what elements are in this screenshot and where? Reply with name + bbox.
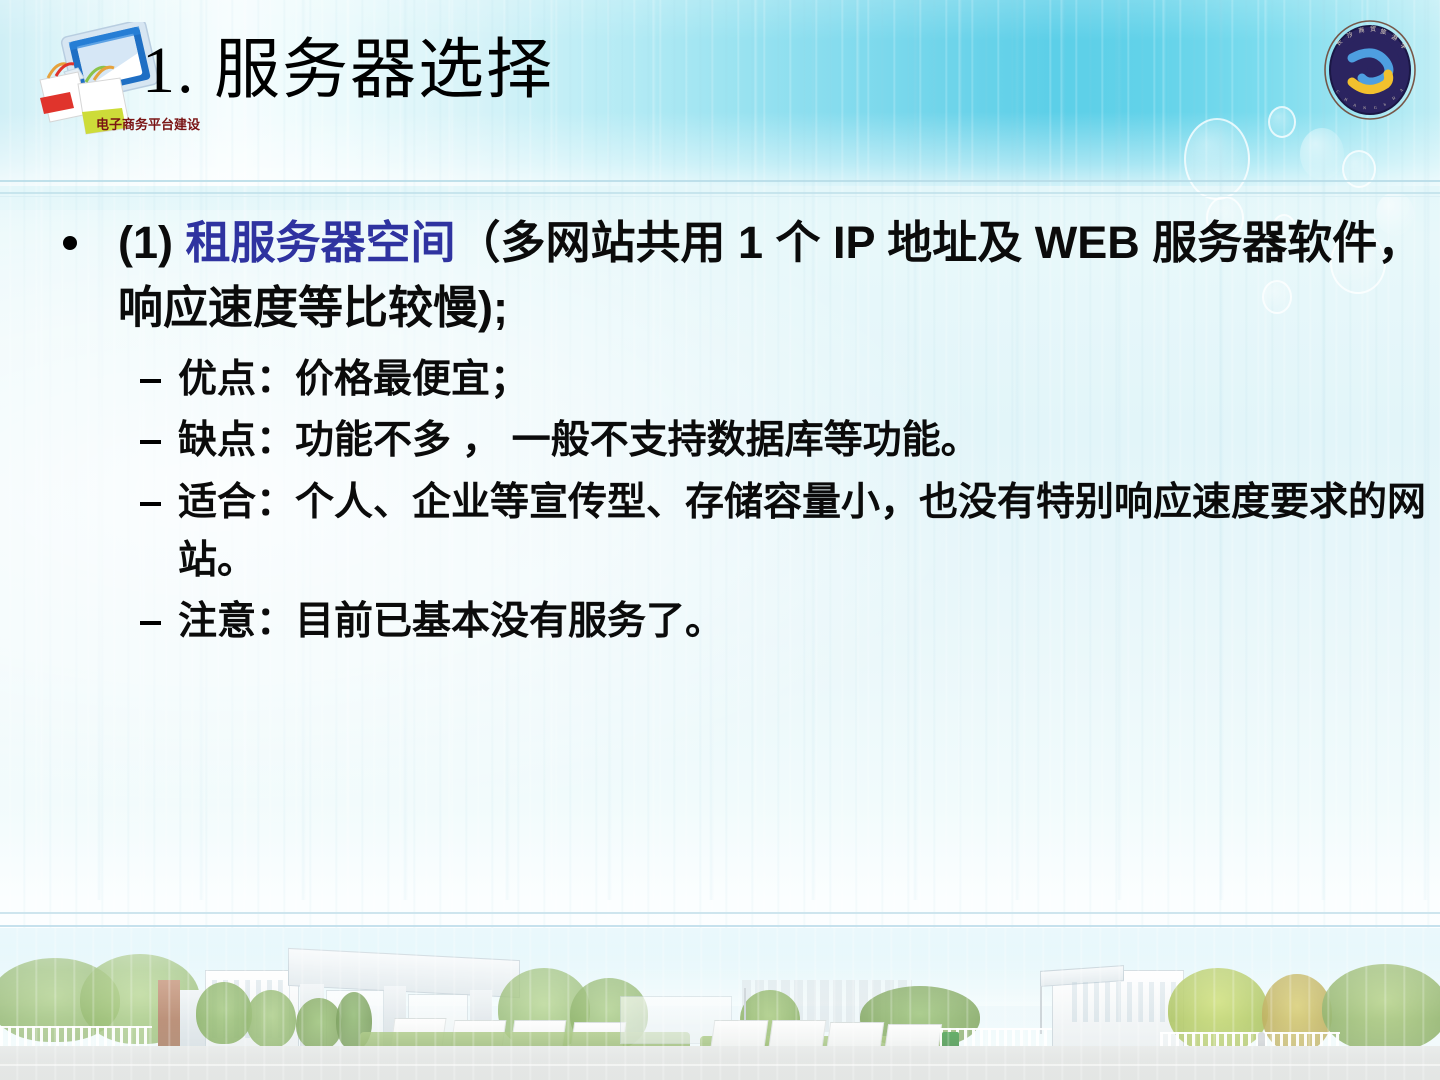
bullet-item-level2: 缺点：功能不多 ， 一般不支持数据库等功能。 [0,412,1440,470]
bullet-item-level2: 适合：个人、企业等宣传型、存储容量小，也没有特别响应速度要求的网站。 [0,474,1440,589]
header-divider-line-3 [0,196,1440,197]
photo-tree [246,990,296,1048]
header-divider-line-1 [0,180,1440,182]
photo-road-marking [0,1064,1440,1066]
school-seal-icon: 长 沙 商 贸 旅 游 学 C H A N G S H A [1322,18,1418,122]
campus-gate-photo [0,928,1440,1080]
header-divider-line-2 [0,192,1440,194]
footer-divider-line-2 [0,925,1440,927]
svg-text:N: N [1363,105,1366,110]
photo-pier [158,980,180,1052]
dash-marker-icon [140,379,161,383]
bullet-dot-icon [63,236,77,250]
svg-text:贸: 贸 [1370,25,1376,33]
slide-header: 电子商务平台建设 1. 服务器选择 长 沙 商 贸 旅 游 学 [0,0,1440,186]
sub-bullet-label: 缺点：功能不多 ， 一般不支持数据库等功能。 [178,419,980,462]
bullet-item-level2: 注意：目前已基本没有服务了。 [0,593,1440,651]
sub-bullet-label: 优点：价格最便宜； [178,358,529,401]
photo-tree [196,982,252,1044]
bullet-item-level1: (1) 租服务器空间（多网站共用 1 个 IP 地址及 WEB 服务器软件，响应… [0,210,1440,341]
sub-bullet-label: 注意：目前已基本没有服务了。 [178,600,724,643]
logo-caption: 电子商务平台建设 [96,114,200,133]
dash-marker-icon [140,502,161,506]
dash-marker-icon [140,621,161,625]
page-title: 1. 服务器选择 [142,36,554,105]
photo-guard-house-windows [1072,982,1176,1022]
photo-road [0,1046,1440,1080]
slide-content: (1) 租服务器空间（多网站共用 1 个 IP 地址及 WEB 服务器软件，响应… [0,210,1440,655]
dash-marker-icon [140,440,161,444]
footer-divider-line-1 [0,912,1440,914]
bullet-run-prefix: (1) [118,217,186,268]
presentation-slide: 电子商务平台建设 1. 服务器选择 长 沙 商 贸 旅 游 学 [0,0,1440,1080]
sub-bullet-label: 适合：个人、企业等宣传型、存储容量小，也没有特别响应速度要求的网站。 [178,481,1426,582]
bullet-run-emphasis: 租服务器空间 [186,217,456,268]
bullet-item-level2: 优点：价格最便宜； [0,351,1440,409]
